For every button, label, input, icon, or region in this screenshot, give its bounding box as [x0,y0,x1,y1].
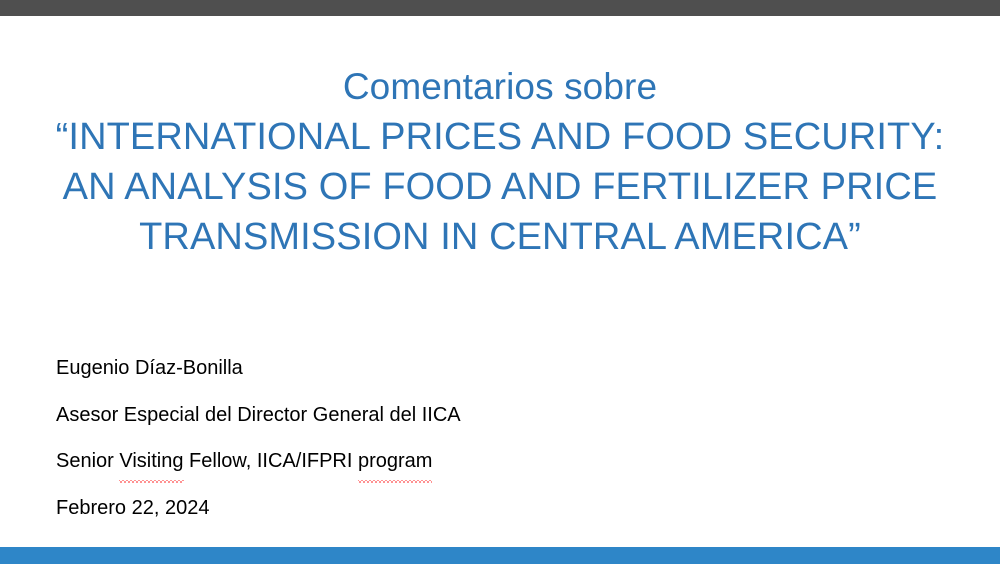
spellcheck-misspelled-word-visiting: Visiting [119,438,183,485]
slide-title: Comentarios sobre “INTERNATIONAL PRICES … [40,62,960,262]
affiliation-text-before: Senior [56,450,119,472]
author-role: Asesor Especial del Director General del… [56,392,936,439]
author-affiliation: Senior Visiting Fellow, IICA/IFPRI progr… [56,438,936,485]
author-name: Eugenio Díaz-Bonilla [56,345,936,392]
slide-body: Eugenio Díaz-Bonilla Asesor Especial del… [56,345,936,531]
title-line-3: AN ANALYSIS OF FOOD AND FERTILIZER PRICE [40,162,960,212]
presentation-slide: Comentarios sobre “INTERNATIONAL PRICES … [0,0,1000,564]
title-line-1: Comentarios sobre [40,62,960,112]
presentation-date: Febrero 22, 2024 [56,485,936,532]
slide-top-accent-bar [0,0,1000,16]
title-line-2: “INTERNATIONAL PRICES AND FOOD SECURITY: [40,112,960,162]
affiliation-text-middle: Fellow, IICA/IFPRI [184,450,358,472]
title-line-4: TRANSMISSION IN CENTRAL AMERICA” [40,212,960,262]
slide-bottom-accent-bar [0,547,1000,564]
spellcheck-misspelled-word-program: program [358,438,432,485]
